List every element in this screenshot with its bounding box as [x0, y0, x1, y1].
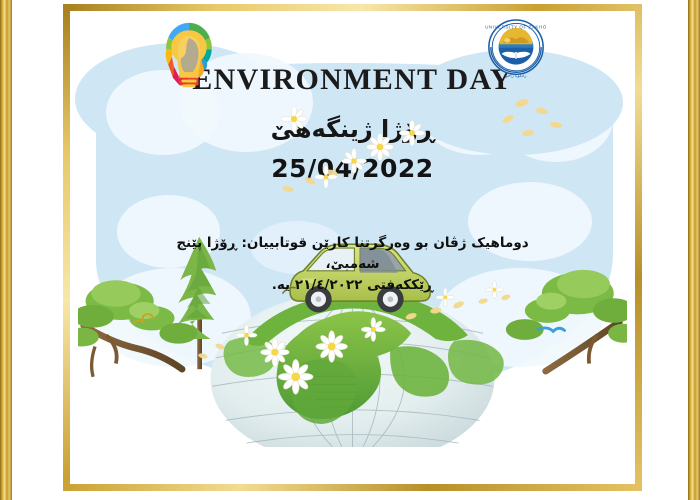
globe: [211, 292, 504, 447]
gold-frame-border: UNIVERSITY OF ZAKHO زانكۆيا زاخو: [63, 4, 642, 491]
kurdish-body-line-2: ڕێککەفتی ٢١/٤/٢٠٢٢ یە.: [148, 275, 557, 296]
kurdish-body-text: دوماهیک ژڤان بو وەرگرتنا کارێن قوتابییان…: [148, 233, 557, 296]
sustainable-development-goals-lightbulb-logo: [160, 19, 218, 91]
gold-edge-strip-left: [0, 0, 12, 500]
university-of-zakho-logo: UNIVERSITY OF ZAKHO زانكۆيا زاخو: [485, 17, 547, 85]
svg-text:UNIVERSITY OF ZAKHO: UNIVERSITY OF ZAKHO: [485, 25, 547, 30]
gold-edge-strip-right: [688, 0, 700, 500]
kurdish-body-line-1: دوماهیک ژڤان بو وەرگرتنا کارێن قوتابییان…: [148, 233, 557, 275]
petal-trail-upper: [270, 89, 570, 199]
poster-canvas: UNIVERSITY OF ZAKHO زانكۆيا زاخو: [70, 11, 635, 484]
svg-text:زانكۆيا زاخو: زانكۆيا زاخو: [505, 73, 527, 79]
environment-day-poster: UNIVERSITY OF ZAKHO زانكۆيا زاخو: [0, 0, 700, 500]
